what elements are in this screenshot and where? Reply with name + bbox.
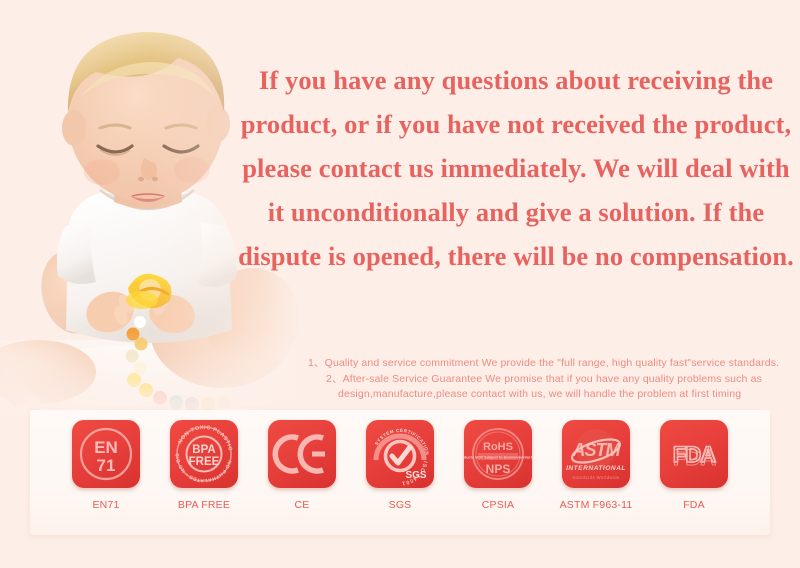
svg-text:EN: EN <box>94 438 118 457</box>
svg-text:INTERNATIONAL: INTERNATIONAL <box>566 465 626 472</box>
badge-label: FDA <box>683 499 705 511</box>
service-policy-text: 1、Quality and service commitment We prov… <box>300 356 795 403</box>
badge-label: EN71 <box>92 499 119 511</box>
certification-badge[interactable]: ASTM INTERNATIONAL Standards Worldwide A… <box>547 420 645 511</box>
certification-badge[interactable]: EN 71 EN71 <box>57 420 155 511</box>
svg-text:BPA: BPA <box>192 444 215 456</box>
ce-badge-icon <box>268 420 336 488</box>
badge-label: CE <box>295 499 310 511</box>
svg-text:FDA: FDA <box>673 445 716 470</box>
certification-badge-list: EN 71 EN71 <box>30 410 770 535</box>
rohs-nps-badge-icon: RoHS Products NOT Subject to Environment… <box>464 420 532 488</box>
badge-label: CPSIA <box>482 499 515 511</box>
en71-badge-icon: EN 71 <box>72 420 140 488</box>
promo-banner: If you have any questions about receivin… <box>0 0 800 568</box>
bpa-free-badge-icon: NON-TOXIC PLASTIC NO PHTHALATES • NO BIS… <box>170 420 238 488</box>
certification-badge[interactable]: FDA FDA FDA <box>645 420 743 511</box>
certification-panel: EN 71 EN71 <box>30 410 770 535</box>
svg-text:NPS: NPS <box>486 462 511 476</box>
certification-badge[interactable]: RoHS Products NOT Subject to Environment… <box>449 420 547 511</box>
svg-text:FREE: FREE <box>189 456 220 468</box>
svg-text:SGS: SGS <box>405 470 426 481</box>
badge-label: SGS <box>389 499 412 511</box>
svg-text:Standards Worldwide: Standards Worldwide <box>572 475 620 480</box>
policy-line-3: design,manufacture,please contact with u… <box>300 387 795 403</box>
certification-badge[interactable]: NON-TOXIC PLASTIC NO PHTHALATES • NO BIS… <box>155 420 253 511</box>
svg-text:Products NOT Subject to Enviro: Products NOT Subject to Environmental La… <box>464 456 532 460</box>
fda-badge-icon: FDA FDA <box>660 420 728 488</box>
headline-text: If you have any questions about receivin… <box>236 58 796 278</box>
badge-label: BPA FREE <box>178 499 230 511</box>
astm-badge-icon: ASTM INTERNATIONAL Standards Worldwide <box>562 420 630 488</box>
certification-badge[interactable]: SYSTEM CERTIFICATION ISO 14001 SGS SGS <box>351 420 449 511</box>
svg-text:RoHS: RoHS <box>483 441 513 453</box>
policy-line-2: 2、After-sale Service Guarantee We promis… <box>300 372 795 388</box>
svg-text:71: 71 <box>97 456 116 475</box>
policy-line-1: 1、Quality and service commitment We prov… <box>300 356 795 372</box>
badge-label: ASTM F963-11 <box>560 499 633 511</box>
certification-badge[interactable]: CE <box>253 420 351 511</box>
sgs-badge-icon: SYSTEM CERTIFICATION ISO 14001 SGS <box>366 420 434 488</box>
